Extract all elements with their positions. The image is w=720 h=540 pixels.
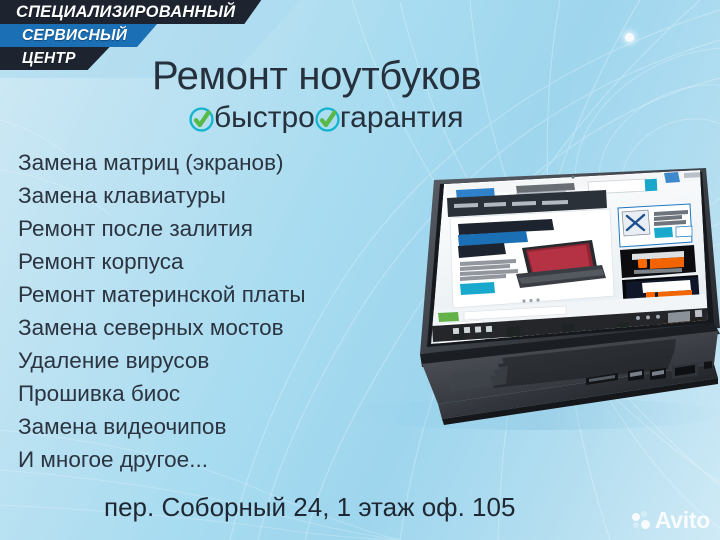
list-item: Прошивка биос <box>18 377 306 410</box>
benefit-warranty-label: гарантия <box>340 101 464 135</box>
benefits-line: быстро гарантия <box>189 101 464 135</box>
list-item: Замена матриц (экранов) <box>18 146 306 179</box>
benefit-fast-label: быстро <box>214 101 315 135</box>
list-item: Замена клавиатуры <box>18 179 306 212</box>
address-line: пер. Соборный 24, 1 этаж оф. 105 <box>104 492 515 523</box>
ribbon-service-label: СЕРВИСНЫЙ <box>22 27 127 45</box>
list-item: Замена видеочипов <box>18 410 306 443</box>
ribbon-specialized: СПЕЦИАЛИЗИРОВАННЫЙ <box>0 0 261 24</box>
check-circle-icon <box>189 107 214 132</box>
list-item: Ремонт материнской платы <box>18 278 306 311</box>
ribbon-center-label: ЦЕНТР <box>22 50 76 68</box>
ribbon-service: СЕРВИСНЫЙ <box>0 24 157 47</box>
list-item: Ремонт после залития <box>18 212 306 245</box>
avito-label: Avito <box>655 507 710 534</box>
avito-dots-icon <box>632 511 651 530</box>
avito-watermark: Avito <box>632 507 710 534</box>
laptop-screen <box>431 170 709 348</box>
list-item: Ремонт корпуса <box>18 245 306 278</box>
services-list: Замена матриц (экранов) Замена клавиатур… <box>18 146 306 476</box>
list-item: Удаление вирусов <box>18 344 306 377</box>
page-title: Ремонт ноутбуков <box>152 54 481 99</box>
ribbon-specialized-label: СПЕЦИАЛИЗИРОВАННЫЙ <box>16 3 235 22</box>
list-item: Замена северных мостов <box>18 311 306 344</box>
sparkle-dot-icon <box>625 33 634 42</box>
list-item: И многое другое... <box>18 443 306 476</box>
check-circle-icon <box>315 107 340 132</box>
poster-root: СПЕЦИАЛИЗИРОВАННЫЙ СЕРВИСНЫЙ ЦЕНТР Ремон… <box>0 0 720 540</box>
